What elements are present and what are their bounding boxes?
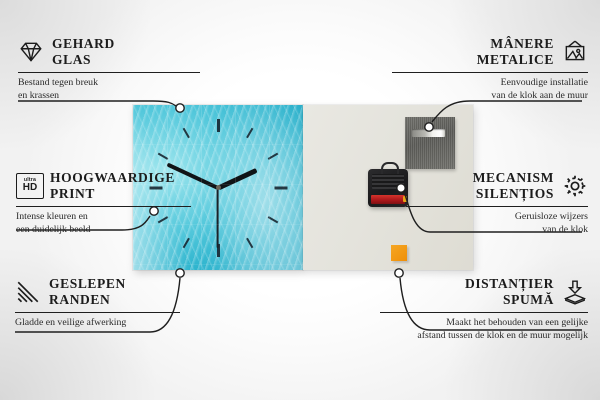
- callout-subtitle-line1: Bestand tegen breuk: [18, 77, 98, 88]
- callout-subtitle-line2: van de klok aan de muur: [491, 90, 588, 101]
- callout-mecanism-silentios[interactable]: MECANISM SILENȚIOS Geruisloze wijzers va…: [378, 170, 588, 236]
- callout-header: MECANISM SILENȚIOS: [378, 170, 588, 201]
- callout-header: GESLEPEN RANDEN: [15, 276, 215, 307]
- callout-title-line1: GEHARD: [52, 36, 115, 51]
- callout-subtitle-line2: afstand tussen de klok en de muur mogeli…: [417, 330, 588, 341]
- metal-hanger-plate: [405, 117, 455, 169]
- callout-subtitle-line1: Eenvoudige installatie: [501, 77, 588, 88]
- spacer-press-icon: [562, 279, 588, 305]
- ultra-hd-icon-main-label: HD: [23, 183, 37, 193]
- callout-header: MÂNERE METALICE: [378, 36, 588, 67]
- foam-spacer: [391, 245, 407, 261]
- callout-rule: [16, 206, 191, 207]
- callout-title-line2: GLAS: [52, 52, 91, 67]
- callout-title-line1: HOOGWAARDIGE: [50, 170, 175, 185]
- callout-title-line2: RANDEN: [49, 292, 110, 307]
- callout-manere-metalice[interactable]: MÂNERE METALICE Eenvoudige installatie v…: [378, 36, 588, 102]
- callout-subtitle-line1: Maakt het behouden van een gelijke: [446, 317, 588, 328]
- gear-icon: [562, 173, 588, 199]
- hanging-picture-icon: [562, 39, 588, 65]
- callout-subtitle-line1: Gladde en veilige afwerking: [15, 317, 126, 328]
- callout-title-line2: METALICE: [477, 52, 554, 67]
- callout-subtitle-line1: Intense kleuren en: [16, 211, 88, 222]
- clock-center-cap: [216, 185, 221, 190]
- callout-title-line2: SPUMĂ: [503, 292, 554, 307]
- diamond-icon: [18, 39, 44, 65]
- beveled-edge-icon: [15, 279, 41, 305]
- callout-rule: [380, 312, 588, 313]
- callout-title-line1: GESLEPEN: [49, 276, 126, 291]
- ultra-hd-icon: ultra HD: [16, 173, 42, 199]
- infographic-canvas: GEHARD GLAS Bestand tegen breuk en krass…: [0, 0, 600, 400]
- callout-title-line2: PRINT: [50, 186, 95, 201]
- callout-rule: [15, 312, 180, 313]
- callout-hoogwaardige-print[interactable]: ultra HD HOOGWAARDIGE PRINT Intense kleu…: [16, 170, 216, 236]
- callout-title-line1: MÂNERE: [490, 36, 554, 51]
- callout-subtitle-line2: en krassen: [18, 90, 59, 101]
- callout-header: ultra HD HOOGWAARDIGE PRINT: [16, 170, 216, 201]
- callout-rule: [18, 72, 200, 73]
- callout-rule: [392, 72, 588, 73]
- callout-gehard-glas[interactable]: GEHARD GLAS Bestand tegen breuk en krass…: [18, 36, 218, 102]
- callout-subtitle-line2: van de klok: [542, 224, 588, 235]
- clock-second-hand: [217, 188, 219, 248]
- callout-distantier-spuma[interactable]: DISTANȚIER SPUMĂ Maakt het behouden van …: [356, 276, 588, 342]
- callout-title-line1: DISTANȚIER: [465, 276, 554, 291]
- callout-geslepen-randen[interactable]: GESLEPEN RANDEN Gladde en veilige afwerk…: [15, 276, 215, 330]
- callout-subtitle-line2: een duidelijk beeld: [16, 224, 91, 235]
- callout-title-line1: MECANISM: [473, 170, 554, 185]
- callout-rule: [406, 206, 588, 207]
- clock-hour-hand: [217, 167, 257, 189]
- callout-subtitle-line1: Geruisloze wijzers: [515, 211, 588, 222]
- callout-title-line2: SILENȚIOS: [476, 186, 554, 201]
- callout-header: DISTANȚIER SPUMĂ: [356, 276, 588, 307]
- hanger-slot: [412, 129, 445, 137]
- callout-header: GEHARD GLAS: [18, 36, 218, 67]
